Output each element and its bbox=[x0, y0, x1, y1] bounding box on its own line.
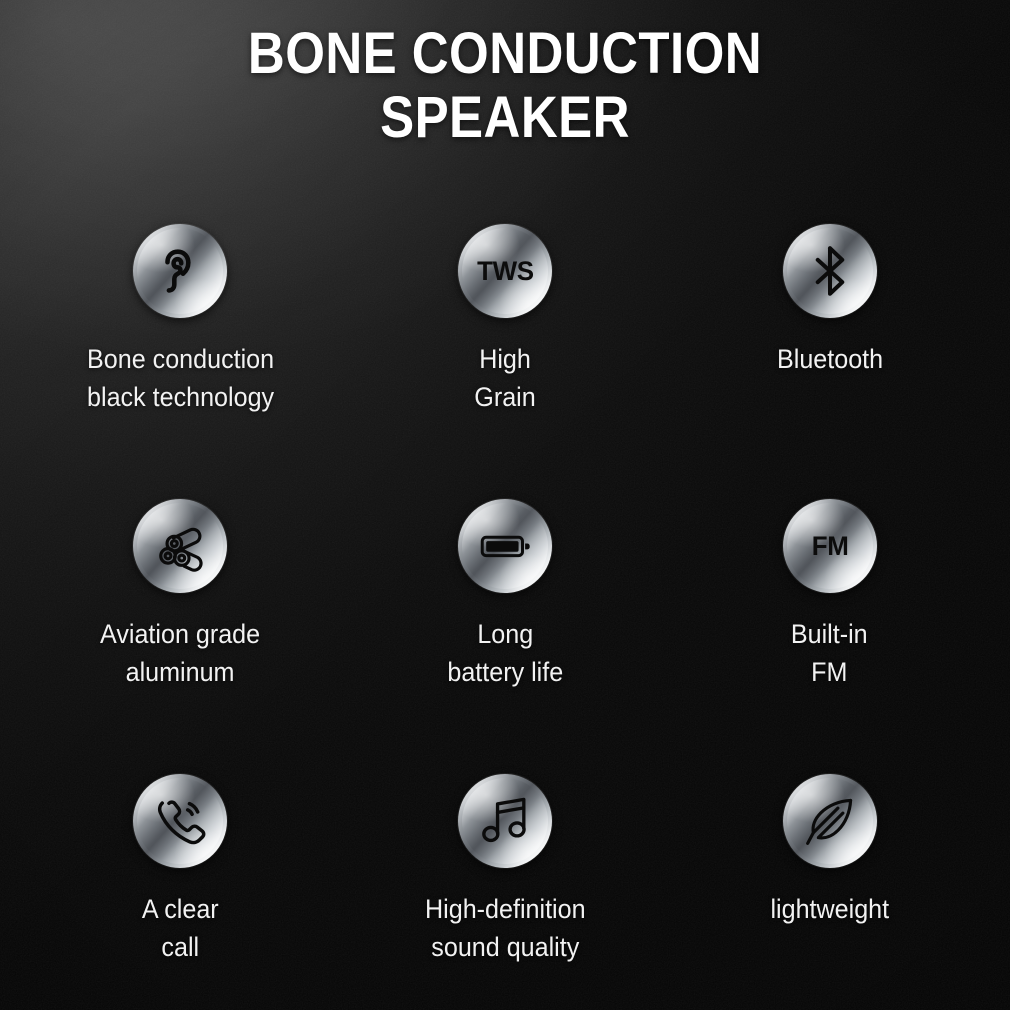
fm-icon: FM bbox=[811, 533, 848, 560]
feature-item-sound-quality: High-definition sound quality bbox=[343, 774, 668, 1010]
feature-caption: High Grain bbox=[474, 340, 535, 416]
battery-icon bbox=[477, 518, 533, 574]
feature-caption: High-definition sound quality bbox=[425, 890, 586, 966]
feature-caption: Long battery life bbox=[447, 615, 563, 691]
feature-icon-disc: FM bbox=[783, 499, 877, 593]
feature-icon-disc bbox=[133, 774, 227, 868]
feature-item-aluminum: Aviation grade aluminum bbox=[18, 499, 343, 774]
feature-item-battery: Long battery life bbox=[343, 499, 668, 774]
feature-item-bluetooth: Bluetooth bbox=[667, 224, 992, 499]
feature-caption: lightweight bbox=[770, 890, 889, 928]
feature-grid: Bone conduction black technology TWS Hig… bbox=[18, 224, 992, 1010]
page-title: BONE CONDUCTION SPEAKER bbox=[0, 22, 1010, 150]
title-line-1: BONE CONDUCTION bbox=[61, 22, 950, 86]
feature-item-bone-conduction: Bone conduction black technology bbox=[18, 224, 343, 499]
feature-caption: A clear call bbox=[142, 890, 219, 966]
ear-icon bbox=[152, 243, 208, 299]
feature-icon-disc bbox=[458, 774, 552, 868]
bluetooth-icon bbox=[802, 243, 858, 299]
feature-caption: Bluetooth bbox=[777, 340, 883, 378]
music-note-icon bbox=[477, 793, 533, 849]
tws-icon: TWS bbox=[477, 258, 533, 285]
aluminum-tubes-icon bbox=[152, 518, 208, 574]
feature-icon-disc: TWS bbox=[458, 224, 552, 318]
feather-icon bbox=[802, 793, 858, 849]
feature-item-fm: FM Built-in FM bbox=[667, 499, 992, 774]
feature-item-clear-call: A clear call bbox=[18, 774, 343, 1010]
feature-caption: Built-in FM bbox=[791, 615, 868, 691]
feature-caption: Aviation grade aluminum bbox=[100, 615, 260, 691]
feature-icon-disc bbox=[783, 774, 877, 868]
feature-item-lightweight: lightweight bbox=[667, 774, 992, 1010]
feature-caption: Bone conduction black technology bbox=[87, 340, 274, 416]
phone-call-icon bbox=[152, 793, 208, 849]
feature-icon-disc bbox=[133, 224, 227, 318]
feature-icon-disc bbox=[133, 499, 227, 593]
feature-item-tws: TWS High Grain bbox=[343, 224, 668, 499]
product-infographic-poster: BONE CONDUCTION SPEAKER Bone conduction … bbox=[0, 0, 1010, 1010]
feature-icon-disc bbox=[783, 224, 877, 318]
feature-icon-disc bbox=[458, 499, 552, 593]
title-line-2: SPEAKER bbox=[61, 86, 950, 150]
